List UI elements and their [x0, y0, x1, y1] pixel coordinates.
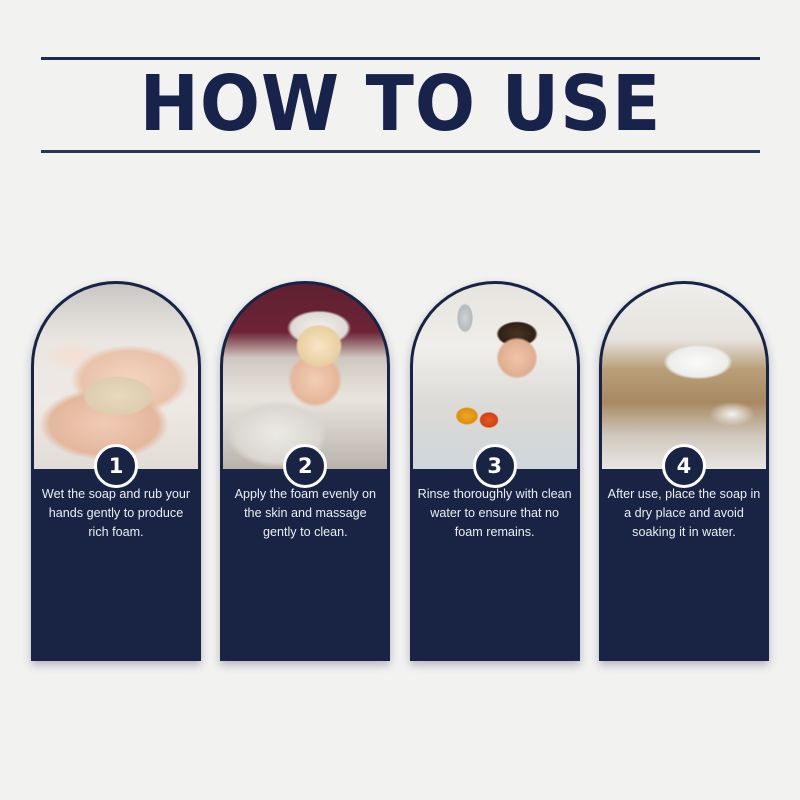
step-number-badge-1: 1: [94, 444, 138, 488]
step-card-2[interactable]: 2 Apply the foam evenly on the skin and …: [220, 281, 390, 661]
title-rule-bottom: [41, 150, 760, 153]
step-description-3: Rinse thoroughly with clean water to ens…: [418, 485, 572, 542]
step-number-badge-3: 3: [473, 444, 517, 488]
step-number-badge-2: 2: [283, 444, 327, 488]
step-photo-2: [223, 284, 387, 469]
step-photo-3: [413, 284, 577, 469]
smiling-child-in-bathtub-with-foam-photo: [223, 284, 387, 469]
step-card-4[interactable]: 4 After use, place the soap in a dry pla…: [599, 281, 769, 661]
child-rinsing-with-shower-head-photo: [413, 284, 577, 469]
soap-bar-on-wooden-dish-photo: [602, 284, 766, 469]
soapy-hands-holding-soap-bar-photo: [34, 284, 198, 469]
steps-list: 1 Wet the soap and rub your hands gently…: [31, 281, 769, 661]
step-description-2: Apply the foam evenly on the skin and ma…: [228, 485, 382, 542]
step-number-badge-4: 4: [662, 444, 706, 488]
step-photo-1: [34, 284, 198, 469]
step-photo-4: [602, 284, 766, 469]
header: HOW TO USE: [41, 57, 760, 153]
step-description-4: After use, place the soap in a dry place…: [607, 485, 761, 542]
step-description-1: Wet the soap and rub your hands gently t…: [39, 485, 193, 542]
step-card-3[interactable]: 3 Rinse thoroughly with clean water to e…: [410, 281, 580, 661]
step-card-1[interactable]: 1 Wet the soap and rub your hands gently…: [31, 281, 201, 661]
page-title: HOW TO USE: [70, 61, 731, 149]
